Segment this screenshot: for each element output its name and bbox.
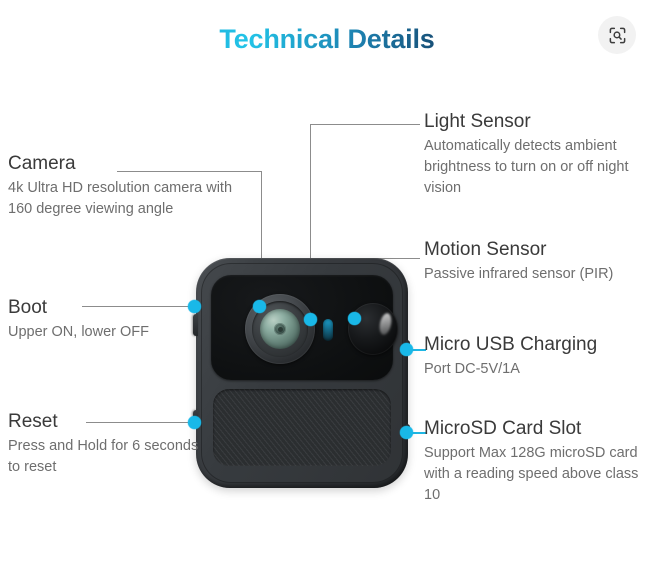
callout-reset-title: Reset	[8, 410, 208, 434]
callout-boot-description: Upper ON, lower OFF	[8, 322, 218, 343]
callout-camera-description: 4k Ultra HD resolution camera with 160 d…	[8, 178, 254, 220]
callout-micro-usb-charging: Micro USB Charging Port DC-5V/1A	[424, 333, 650, 380]
callout-camera-title: Camera	[8, 152, 254, 176]
callout-microsd-card-slot: MicroSD Card Slot Support Max 128G micro…	[424, 417, 648, 506]
callout-micro-usb-charging-title: Micro USB Charging	[424, 333, 650, 357]
pir-dome	[348, 303, 398, 355]
callout-motion-sensor-description: Passive infrared sensor (PIR)	[424, 264, 654, 285]
mini-action-camera	[196, 258, 408, 488]
callout-micro-usb-charging-description: Port DC-5V/1A	[424, 359, 650, 380]
hotspot-dot-micro-usb[interactable]	[400, 343, 413, 356]
device-front-panel	[211, 275, 393, 380]
pir-dome-highlight	[378, 312, 393, 336]
hotspot-dot-camera[interactable]	[253, 300, 266, 313]
callout-light-sensor-title: Light Sensor	[424, 110, 654, 134]
callout-boot: Boot Upper ON, lower OFF	[8, 296, 218, 343]
callout-reset: Reset Press and Hold for 6 seconds to re…	[8, 410, 208, 478]
leader-line-light-sensor-horizontal	[310, 124, 420, 125]
callout-motion-sensor-title: Motion Sensor	[424, 238, 654, 262]
light-sensor-slot	[323, 319, 333, 341]
callout-boot-title: Boot	[8, 296, 218, 320]
camera-lens-glass	[260, 309, 300, 349]
scan-search-button[interactable]	[598, 16, 636, 54]
callout-motion-sensor: Motion Sensor Passive infrared sensor (P…	[424, 238, 654, 285]
callout-microsd-card-slot-title: MicroSD Card Slot	[424, 417, 648, 441]
textured-grill	[213, 389, 391, 466]
hotspot-dot-microsd[interactable]	[400, 426, 413, 439]
callout-camera: Camera 4k Ultra HD resolution camera wit…	[8, 152, 254, 220]
camera-lens-aperture	[274, 323, 286, 335]
callout-reset-description: Press and Hold for 6 seconds to reset	[8, 436, 208, 478]
hotspot-dot-light-sensor[interactable]	[304, 313, 317, 326]
scan-search-icon	[608, 26, 627, 45]
callout-light-sensor-description: Automatically detects ambient brightness…	[424, 136, 654, 199]
callout-light-sensor: Light Sensor Automatically detects ambie…	[424, 110, 654, 199]
page-title: Technical Details	[0, 24, 654, 55]
hotspot-dot-motion-sensor[interactable]	[348, 312, 361, 325]
callout-microsd-card-slot-description: Support Max 128G microSD card with a rea…	[424, 443, 648, 506]
